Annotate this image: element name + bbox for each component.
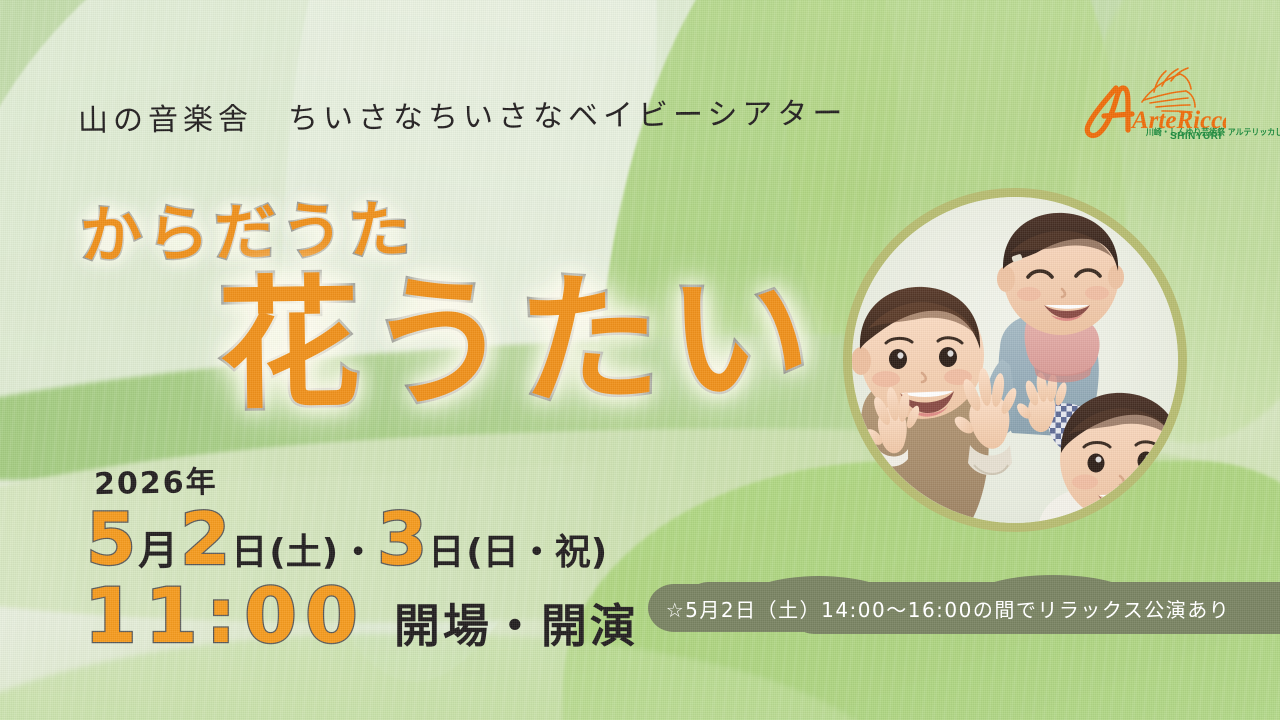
day2-kanji: 日 <box>427 535 465 571</box>
day1-kanji: 日 <box>230 535 268 571</box>
day1-number: 2 <box>180 504 230 575</box>
babies-photo <box>852 197 1178 523</box>
time-label: 開場・開演 <box>394 603 639 649</box>
day1-weekday: (土) <box>268 535 339 571</box>
organizer-subtitle: 山の音楽舎 ちいさなちいさなベイビーシアター <box>78 88 848 139</box>
logo-subtitle-text: 川崎・しんゆり芸術祭 アルテリッカしんゆり <box>1146 126 1280 138</box>
day2-number: 3 <box>377 504 427 575</box>
title-main: 花うたい <box>217 268 819 418</box>
relax-performance-text: ☆5月2日（土）14:00〜16:00の間でリラックス公演あり <box>666 594 1231 623</box>
babies-photo-illustration <box>852 197 1178 523</box>
day2-weekday: (日・祝) <box>465 535 608 571</box>
title-small: からだうた <box>79 179 416 275</box>
time-block: 11:00 開場・開演 <box>84 578 639 654</box>
month-kanji: 月 <box>136 531 180 571</box>
relax-performance-banner: ☆5月2日（土）14:00〜16:00の間でリラックス公演あり <box>648 584 1248 632</box>
poster-canvas: 山の音楽舎 ちいさなちいさなベイビーシアター Ar <box>0 0 1280 720</box>
time-digits: 11:00 <box>84 578 366 654</box>
date-block: 2026年 5 月 2 日 (土) ・ 3 日 (日・祝) <box>86 458 608 575</box>
year-label: 2026年 <box>94 457 218 503</box>
babies-photo-circle <box>843 188 1187 532</box>
date-separator: ・ <box>339 535 377 571</box>
date-line: 5 月 2 日 (土) ・ 3 日 (日・祝) <box>86 504 608 575</box>
month-number: 5 <box>86 504 136 575</box>
